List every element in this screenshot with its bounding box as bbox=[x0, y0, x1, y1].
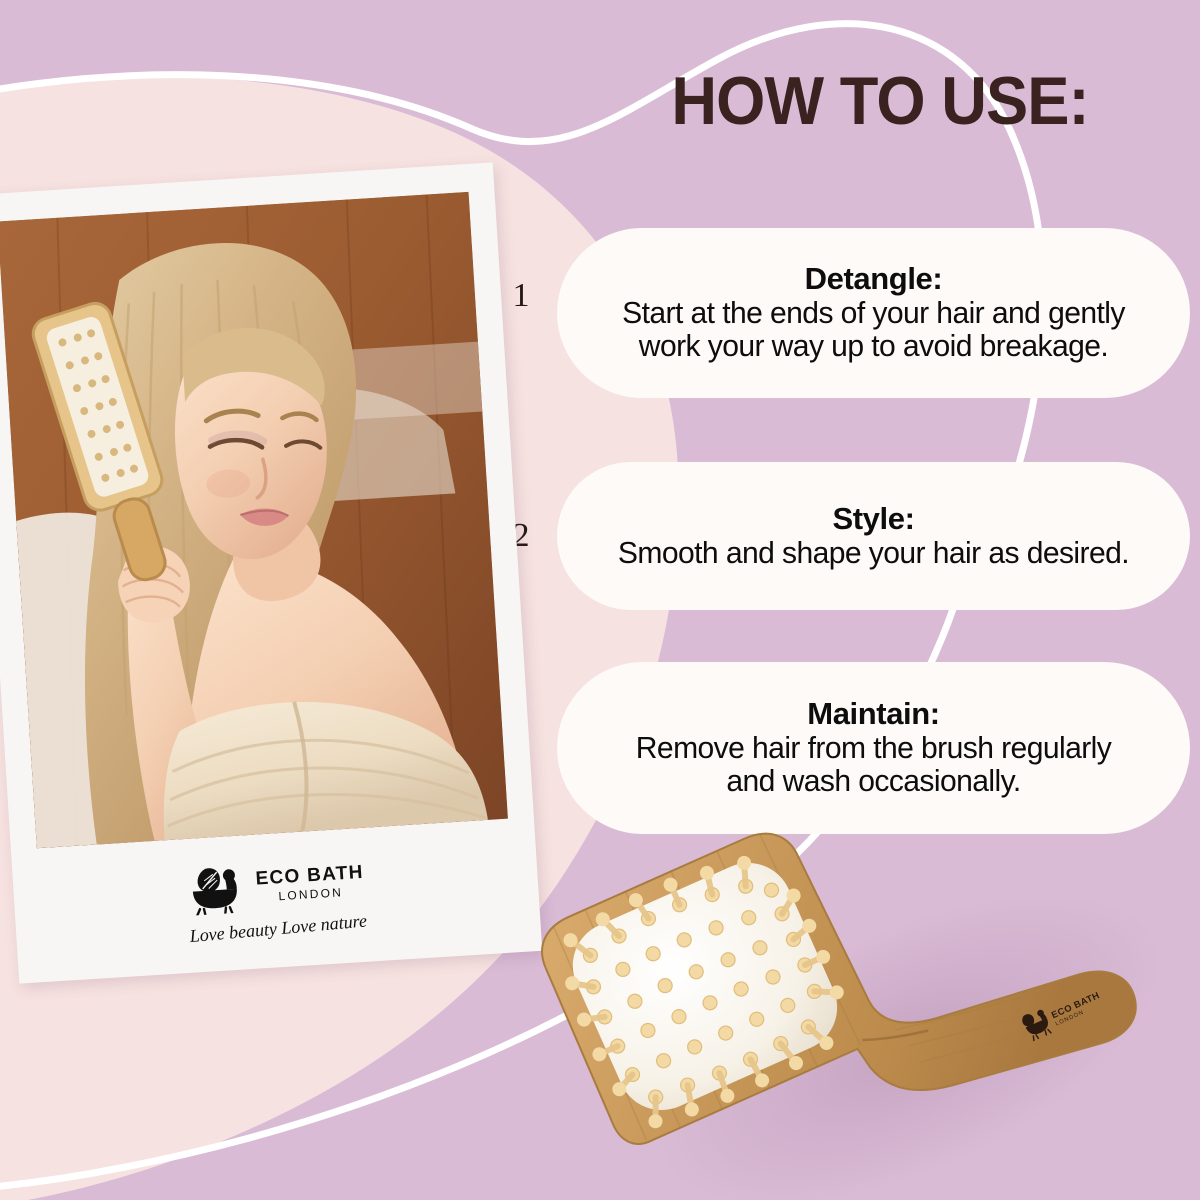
infographic-canvas: HOW TO USE: 1 Detangle: Start at the end… bbox=[0, 0, 1200, 1200]
brand-location: LONDON bbox=[278, 886, 343, 902]
polaroid-caption: ECO BATH LONDON Love beauty Love nature bbox=[37, 819, 516, 980]
step-body-1: Start at the ends of your hair and gentl… bbox=[611, 296, 1136, 363]
step-title-3: Maintain: bbox=[807, 698, 939, 731]
step-card-2[interactable]: Style: Smooth and shape your hair as des… bbox=[557, 462, 1190, 610]
step-body-3: Remove hair from the brush regularly and… bbox=[611, 731, 1136, 798]
page-title: HOW TO USE: bbox=[582, 62, 1177, 140]
polaroid-photo bbox=[0, 192, 508, 848]
polaroid-frame: ECO BATH LONDON Love beauty Love nature bbox=[0, 162, 542, 983]
woman-brushing-hair-illustration bbox=[0, 192, 508, 848]
brand-name: ECO BATH bbox=[255, 862, 364, 888]
eco-bath-logo: ECO BATH LONDON bbox=[186, 854, 366, 915]
step-title-1: Detangle: bbox=[805, 263, 943, 296]
bathtub-leaf-icon bbox=[186, 862, 249, 916]
brand-tagline: Love beauty Love nature bbox=[189, 910, 368, 947]
step-title-2: Style: bbox=[832, 503, 914, 536]
step-card-1[interactable]: Detangle: Start at the ends of your hair… bbox=[557, 228, 1190, 398]
bamboo-paddle-brush-image: ECO BATH LONDON bbox=[540, 800, 1200, 1200]
step-number-1: 1 bbox=[498, 279, 544, 313]
step-body-2: Smooth and shape your hair as desired. bbox=[618, 536, 1129, 569]
